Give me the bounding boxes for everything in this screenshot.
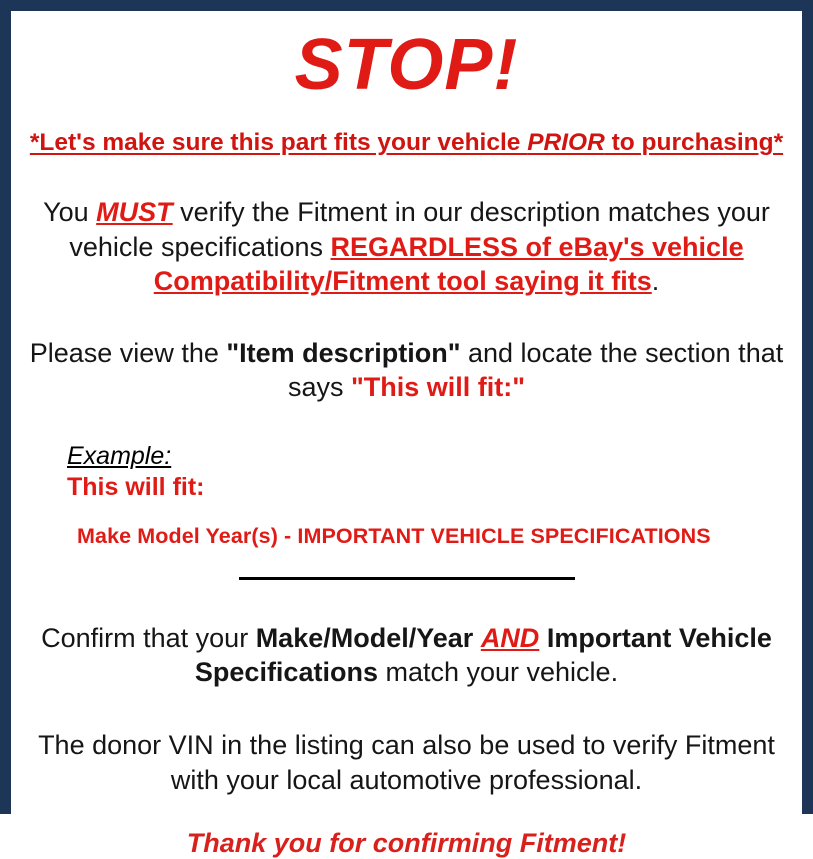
example-label: Example: bbox=[67, 443, 171, 471]
confirm-seg-2 bbox=[473, 623, 481, 653]
view-seg-1: Please view the bbox=[30, 338, 227, 368]
section-divider bbox=[239, 577, 575, 580]
confirm-seg-3 bbox=[539, 623, 547, 653]
subhead-after: to purchasing* bbox=[605, 129, 783, 156]
divider-wrap bbox=[25, 577, 788, 581]
example-spec-line: Make Model Year(s) - IMPORTANT VEHICLE S… bbox=[67, 524, 788, 549]
confirm-seg-1: Confirm that your bbox=[41, 623, 256, 653]
stop-headline: STOP! bbox=[25, 29, 788, 101]
subhead-line: *Let's make sure this part fits your veh… bbox=[25, 129, 788, 157]
must-seg-3: . bbox=[652, 266, 660, 296]
example-label-row: Example: bbox=[67, 443, 788, 471]
subhead-emphasis-prior: PRIOR bbox=[527, 129, 605, 156]
must-emphasis: MUST bbox=[96, 197, 173, 227]
example-this-will-fit: This will fit: bbox=[67, 473, 788, 502]
subhead-before: *Let's make sure this part fits your veh… bbox=[30, 129, 527, 156]
donor-vin-paragraph: The donor VIN in the listing can also be… bbox=[25, 728, 788, 797]
must-seg-1: You bbox=[43, 197, 96, 227]
fitment-notice-frame: STOP! *Let's make sure this part fits yo… bbox=[0, 0, 813, 814]
view-description-paragraph: Please view the "Item description" and l… bbox=[25, 336, 788, 405]
confirm-seg-4: match your vehicle. bbox=[378, 657, 618, 687]
item-description-emphasis: "Item description" bbox=[226, 338, 460, 368]
must-verify-paragraph: You MUST verify the Fitment in our descr… bbox=[25, 195, 788, 299]
thank-you-line: Thank you for confirming Fitment! bbox=[25, 827, 788, 859]
this-will-fit-emphasis: "This will fit:" bbox=[351, 372, 525, 402]
fitment-notice-body: STOP! *Let's make sure this part fits yo… bbox=[11, 29, 802, 821]
and-emphasis: AND bbox=[481, 623, 540, 653]
example-block: Example: This will fit: Make Model Year(… bbox=[25, 443, 788, 549]
confirm-paragraph: Confirm that your Make/Model/Year AND Im… bbox=[25, 621, 788, 690]
make-model-year-emphasis: Make/Model/Year bbox=[256, 623, 474, 653]
